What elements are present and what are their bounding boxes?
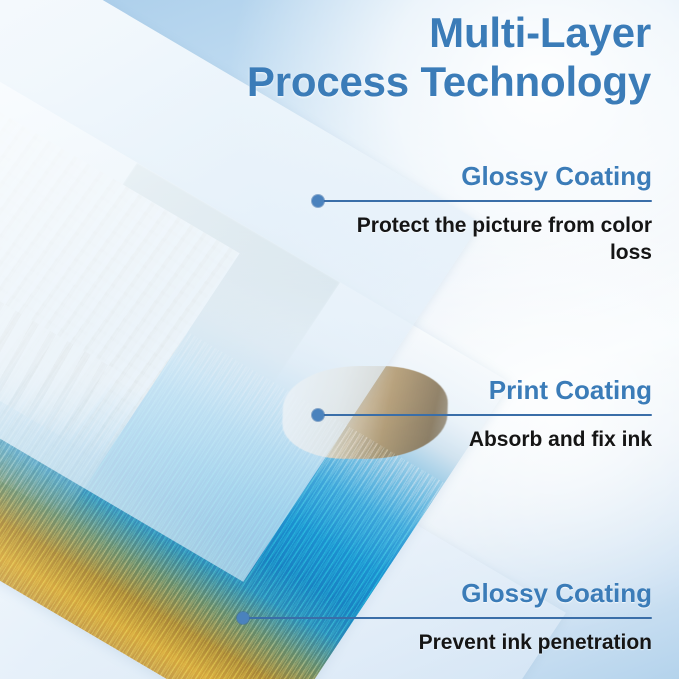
leader-dot-icon <box>237 612 249 624</box>
page-title-line-1: Multi-Layer <box>181 8 651 57</box>
callout-glossy-coating-bottom: Glossy Coating Prevent ink penetration <box>237 580 652 657</box>
callout-glossy-coating-top: Glossy Coating Protect the picture from … <box>312 163 652 266</box>
callout-print-coating: Print Coating Absorb and fix ink <box>312 377 652 454</box>
callout-title: Print Coating <box>312 377 652 409</box>
leader-line-stroke <box>312 200 652 202</box>
callout-title: Glossy Coating <box>312 163 652 195</box>
callout-description: Prevent ink penetration <box>237 624 652 656</box>
page-title: Multi-Layer Process Technology <box>181 8 651 106</box>
callout-leader-line <box>237 612 652 624</box>
callout-title: Glossy Coating <box>237 580 652 612</box>
leader-line-stroke <box>312 414 652 416</box>
callout-leader-line <box>312 195 652 207</box>
headland-shape <box>56 163 340 405</box>
town-buildings-shape <box>0 77 240 519</box>
viaduct-arches-shape <box>0 232 118 442</box>
infographic-canvas: Multi-Layer Process Technology Glossy Co… <box>0 0 679 679</box>
page-title-line-2: Process Technology <box>181 57 651 106</box>
leader-dot-icon <box>312 195 324 207</box>
leader-line-stroke <box>237 617 652 619</box>
callout-description: Absorb and fix ink <box>312 421 652 453</box>
leader-dot-icon <box>312 409 324 421</box>
callout-leader-line <box>312 409 652 421</box>
callout-description: Protect the picture from color loss <box>312 207 652 266</box>
